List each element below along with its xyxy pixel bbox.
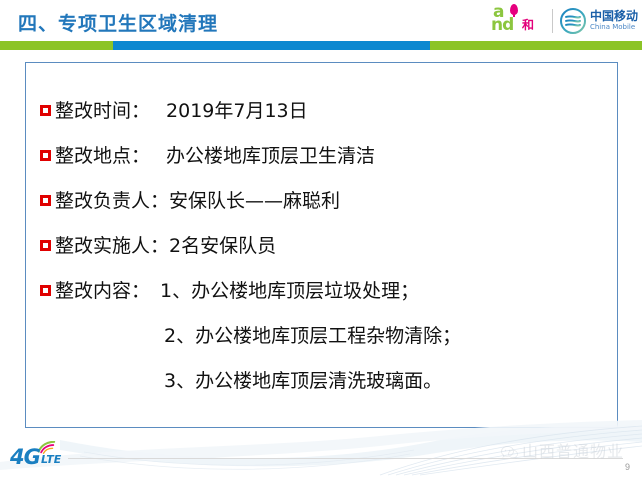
china-mobile-mark-icon (560, 8, 586, 34)
page-title: 四、专项卫生区域清理 (18, 9, 218, 36)
bullet-row-2: 整改地点： 办公楼地库顶层卫生清洁 (40, 143, 375, 169)
and-brand-logo: a nd 和 (489, 5, 545, 37)
logo-divider (552, 9, 553, 33)
bullet-row-5: 整改内容： 1、办公楼地库顶层垃圾处理； (40, 278, 419, 304)
bullet-label-2: 整改地点： (55, 143, 150, 169)
bullet-label-4: 整改实施人： (55, 233, 169, 259)
sub-item-3: 3、办公楼地库顶层清洗玻璃面。 (164, 368, 442, 394)
wechat-icon (501, 445, 518, 460)
lte-logo-sub: LTE (41, 454, 61, 466)
square-bullet-icon (40, 285, 51, 296)
bullet-value-3: 安保队长——麻聪利 (169, 188, 340, 214)
lte-logo: 4G LTE (10, 441, 72, 471)
lte-logo-main: 4G (10, 446, 40, 468)
bullet-value-1: 2019年7月13日 (150, 98, 308, 124)
balloon-icon (510, 4, 518, 15)
content-box: 整改时间： 2019年7月13日 整改地点： 办公楼地库顶层卫生清洁 整改负责人… (25, 62, 618, 428)
bullet-row-1: 整改时间： 2019年7月13日 (40, 98, 308, 124)
bullet-value-2: 办公楼地库顶层卫生清洁 (150, 143, 375, 169)
logo-group: a nd 和 (489, 4, 638, 38)
china-mobile-en: China Mobile (590, 23, 638, 32)
square-bullet-icon (40, 105, 51, 116)
slide-header: 四、专项卫生区域清理 a nd 和 (0, 0, 642, 44)
sub-item-2: 2、办公楼地库顶层工程杂物清除； (164, 323, 461, 349)
bullet-row-3: 整改负责人： 安保队长——麻聪利 (40, 188, 340, 214)
square-bullet-icon (40, 195, 51, 206)
page-number: 9 (625, 462, 630, 472)
bullet-row-4: 整改实施人： 2名安保队员 (40, 233, 276, 259)
watermark-text: 山西普通物业 (522, 443, 624, 461)
header-divider-blue (113, 41, 430, 50)
square-bullet-icon (40, 240, 51, 251)
sub-item-text-2: 2、办公楼地库顶层工程杂物清除； (164, 323, 461, 349)
bullet-label-5: 整改内容： (55, 278, 150, 304)
and-logo-suffix: 和 (522, 18, 534, 32)
slide-canvas: 四、专项卫生区域清理 a nd 和 (0, 0, 642, 480)
square-bullet-icon (40, 150, 51, 161)
bullet-label-1: 整改时间： (55, 98, 150, 124)
bullet-value-4: 2名安保队员 (169, 233, 276, 259)
china-mobile-wordmark: 中国移动 China Mobile (590, 10, 638, 32)
bullet-label-3: 整改负责人： (55, 188, 169, 214)
wechat-watermark: 山西普通物业 (501, 443, 624, 461)
china-mobile-logo: 中国移动 China Mobile (560, 8, 638, 34)
and-logo-line2: nd (491, 18, 513, 33)
china-mobile-cn: 中国移动 (590, 10, 638, 23)
sub-item-text-3: 3、办公楼地库顶层清洗玻璃面。 (164, 368, 442, 394)
bullet-value-5: 1、办公楼地库顶层垃圾处理； (150, 278, 419, 304)
